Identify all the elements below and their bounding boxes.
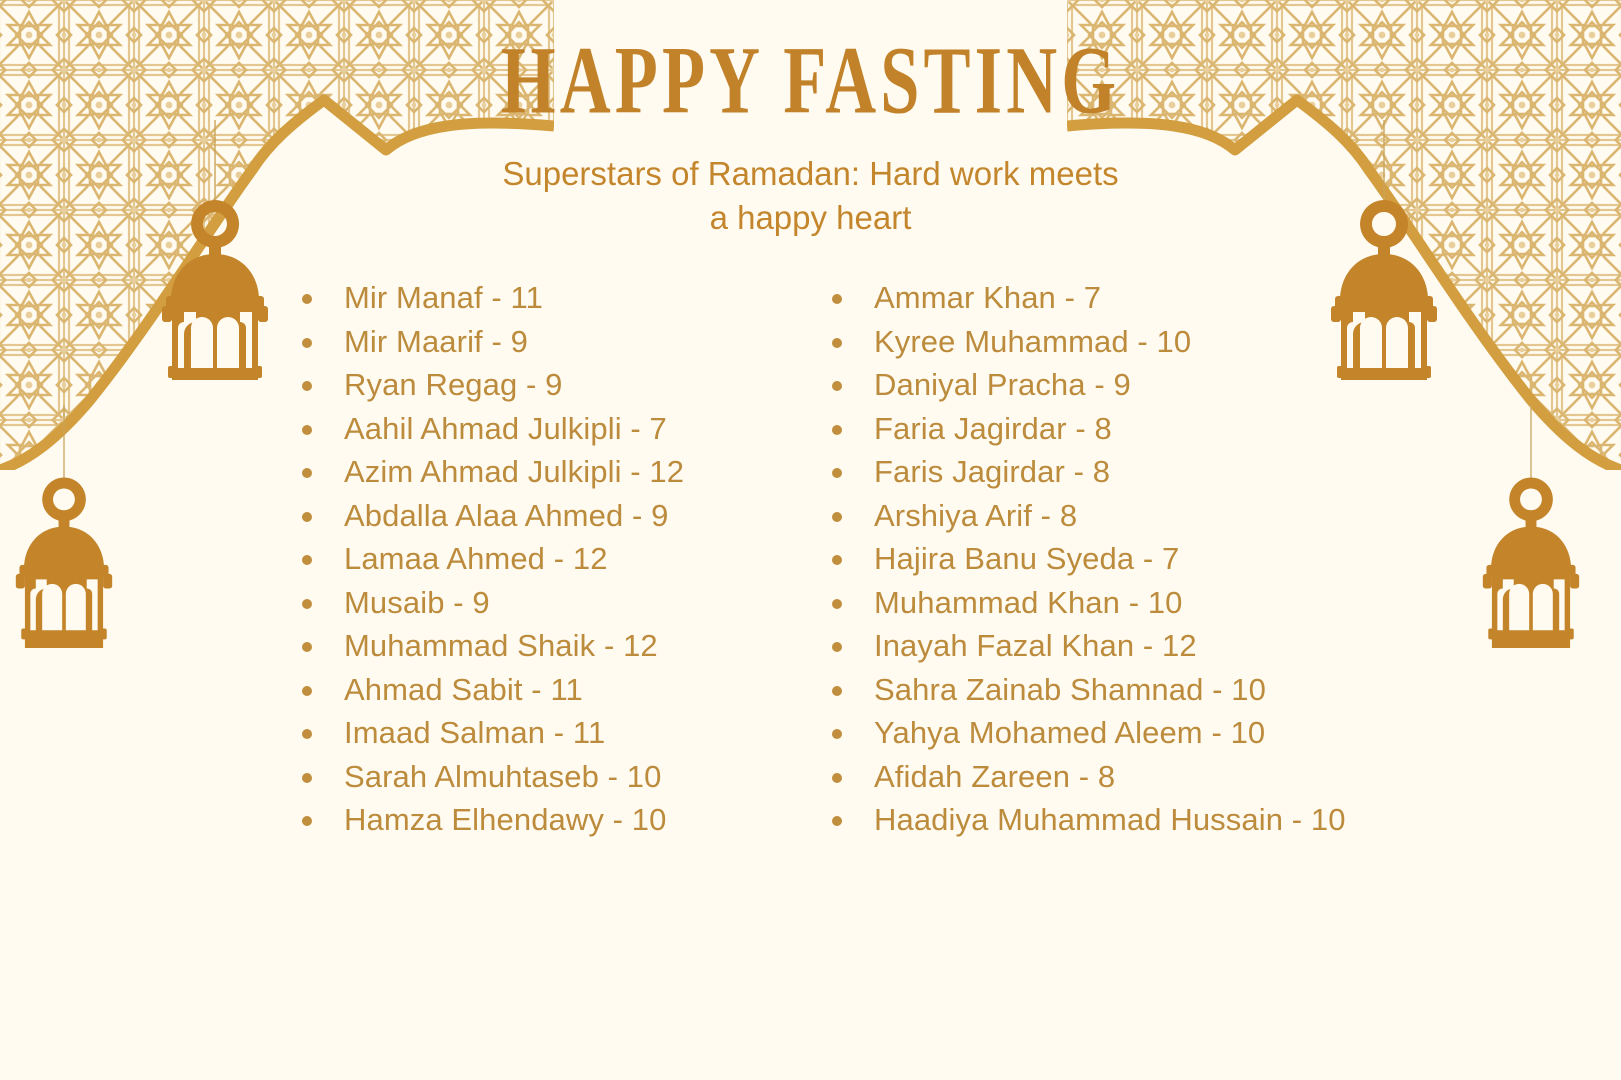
list-item: Kyree Muhammad - 10 [826, 320, 1426, 364]
list-item: Hamza Elhendawy - 10 [296, 798, 826, 842]
list-item: Ryan Regag - 9 [296, 363, 826, 407]
name-list-right: Ammar Khan - 7Kyree Muhammad - 10Daniyal… [826, 276, 1426, 842]
list-item: Afidah Zareen - 8 [826, 755, 1426, 799]
list-item: Mir Maarif - 9 [296, 320, 826, 364]
names-column-right: Ammar Khan - 7Kyree Muhammad - 10Daniyal… [826, 276, 1426, 842]
list-item: Faria Jagirdar - 8 [826, 407, 1426, 451]
list-item: Sarah Almuhtaseb - 10 [296, 755, 826, 799]
list-item: Imaad Salman - 11 [296, 711, 826, 755]
list-item: Aahil Ahmad Julkipli - 7 [296, 407, 826, 451]
list-item: Muhammad Shaik - 12 [296, 624, 826, 668]
list-item: Sahra Zainab Shamnad - 10 [826, 668, 1426, 712]
list-item: Inayah Fazal Khan - 12 [826, 624, 1426, 668]
names-columns: Mir Manaf - 11Mir Maarif - 9Ryan Regag -… [0, 276, 1621, 842]
list-item: Musaib - 9 [296, 581, 826, 625]
names-column-left: Mir Manaf - 11Mir Maarif - 9Ryan Regag -… [296, 276, 826, 842]
list-item: Daniyal Pracha - 9 [826, 363, 1426, 407]
list-item: Abdalla Alaa Ahmed - 9 [296, 494, 826, 538]
name-list-left: Mir Manaf - 11Mir Maarif - 9Ryan Regag -… [296, 276, 826, 842]
list-item: Muhammad Khan - 10 [826, 581, 1426, 625]
list-item: Yahya Mohamed Aleem - 10 [826, 711, 1426, 755]
list-item: Ahmad Sabit - 11 [296, 668, 826, 712]
page-subtitle: Superstars of Ramadan: Hard work meets a… [491, 152, 1131, 239]
list-item: Faris Jagirdar - 8 [826, 450, 1426, 494]
list-item: Mir Manaf - 11 [296, 276, 826, 320]
list-item: Arshiya Arif - 8 [826, 494, 1426, 538]
poster-canvas: HAPPY FASTING Superstars of Ramadan: Har… [0, 0, 1621, 1080]
page-title: HAPPY FASTING [146, 32, 1475, 128]
list-item: Lamaa Ahmed - 12 [296, 537, 826, 581]
list-item: Hajira Banu Syeda - 7 [826, 537, 1426, 581]
list-item: Ammar Khan - 7 [826, 276, 1426, 320]
list-item: Haadiya Muhammad Hussain - 10 [826, 798, 1426, 842]
list-item: Azim Ahmad Julkipli - 12 [296, 450, 826, 494]
